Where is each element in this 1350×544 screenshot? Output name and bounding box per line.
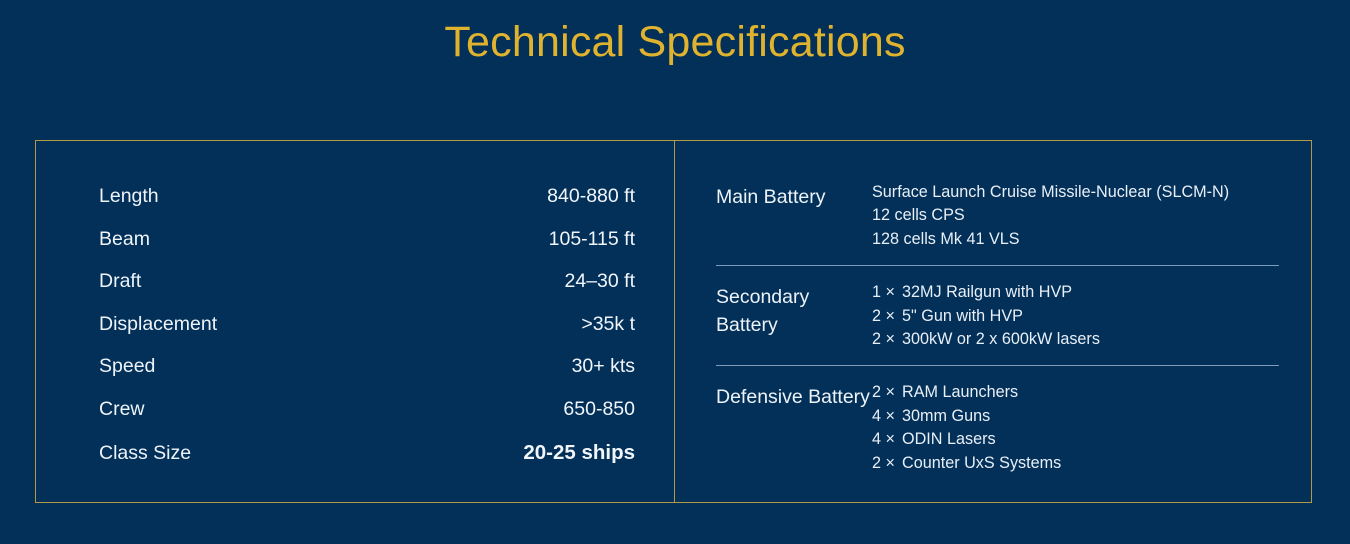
armament-group-secondary-battery: Secondary Battery 1 × 32MJ Railgun with … xyxy=(716,266,1279,366)
spec-label: Length xyxy=(99,185,159,208)
table-row: Speed 30+ kts xyxy=(99,355,635,398)
armament-item-text: 128 cells Mk 41 VLS xyxy=(872,228,1279,251)
list-item: 2 × Counter UxS Systems xyxy=(872,452,1279,475)
spec-label: Speed xyxy=(99,355,155,378)
armament-item-text: Counter UxS Systems xyxy=(902,452,1279,475)
armament-item-count: 2 × xyxy=(872,381,902,404)
spec-label: Draft xyxy=(99,270,141,293)
armament-item-count: 4 × xyxy=(872,428,902,451)
spec-value: 650-850 xyxy=(563,398,635,421)
list-item: 1 × 32MJ Railgun with HVP xyxy=(872,281,1279,304)
table-row: Beam 105-115 ft xyxy=(99,228,635,271)
spec-label: Crew xyxy=(99,398,145,421)
spec-value: 30+ kts xyxy=(572,355,635,378)
armament-specifications-table: Main Battery Surface Launch Cruise Missi… xyxy=(675,141,1311,502)
armament-item-text: 300kW or 2 x 600kW lasers xyxy=(902,328,1279,351)
armament-item-text: 32MJ Railgun with HVP xyxy=(902,281,1279,304)
spec-value: 24–30 ft xyxy=(565,270,635,293)
spec-label: Beam xyxy=(99,228,150,251)
spec-label: Displacement xyxy=(99,313,217,336)
spec-value: >35k t xyxy=(581,313,635,336)
table-row: Length 840-880 ft xyxy=(99,185,635,228)
list-item: Surface Launch Cruise Missile-Nuclear (S… xyxy=(872,181,1279,204)
list-item: 2 × 5" Gun with HVP xyxy=(872,305,1279,328)
armament-item-count: 4 × xyxy=(872,405,902,428)
armament-group-label: Main Battery xyxy=(716,181,872,211)
armament-item-text: ODIN Lasers xyxy=(902,428,1279,451)
armament-item-count: 2 × xyxy=(872,452,902,475)
table-row: Displacement >35k t xyxy=(99,313,635,356)
armament-group-main-battery: Main Battery Surface Launch Cruise Missi… xyxy=(716,181,1279,266)
armament-item-text: 5" Gun with HVP xyxy=(902,305,1279,328)
spec-value: 20-25 ships xyxy=(523,441,635,465)
armament-item-text: RAM Launchers xyxy=(902,381,1279,404)
armament-group-label: Defensive Battery xyxy=(716,381,872,411)
spec-label: Class Size xyxy=(99,442,191,465)
hull-specifications-table: Length 840-880 ft Beam 105-115 ft Draft … xyxy=(36,141,675,502)
armament-item-count: 2 × xyxy=(872,305,902,328)
table-row: Draft 24–30 ft xyxy=(99,270,635,313)
spec-value: 840-880 ft xyxy=(547,185,635,208)
specifications-panel: Length 840-880 ft Beam 105-115 ft Draft … xyxy=(35,140,1312,503)
armament-group-label: Secondary Battery xyxy=(716,281,872,340)
spec-value: 105-115 ft xyxy=(549,228,635,251)
armament-item-text: 30mm Guns xyxy=(902,405,1279,428)
armament-item-text: 12 cells CPS xyxy=(872,204,1279,227)
list-item: 2 × 300kW or 2 x 600kW lasers xyxy=(872,328,1279,351)
armament-group-defensive-battery: Defensive Battery 2 × RAM Launchers 4 × … xyxy=(716,366,1279,475)
armament-item-list: 2 × RAM Launchers 4 × 30mm Guns 4 × ODIN… xyxy=(872,381,1279,475)
table-row: Class Size 20-25 ships xyxy=(99,441,635,484)
armament-item-count: 2 × xyxy=(872,328,902,351)
table-row: Crew 650-850 xyxy=(99,398,635,441)
list-item: 2 × RAM Launchers xyxy=(872,381,1279,404)
list-item: 4 × 30mm Guns xyxy=(872,405,1279,428)
list-item: 4 × ODIN Lasers xyxy=(872,428,1279,451)
list-item: 128 cells Mk 41 VLS xyxy=(872,228,1279,251)
armament-item-count: 1 × xyxy=(872,281,902,304)
page-title: Technical Specifications xyxy=(0,18,1350,67)
armament-item-list: Surface Launch Cruise Missile-Nuclear (S… xyxy=(872,181,1279,251)
armament-item-text: Surface Launch Cruise Missile-Nuclear (S… xyxy=(872,181,1279,204)
armament-item-list: 1 × 32MJ Railgun with HVP 2 × 5" Gun wit… xyxy=(872,281,1279,351)
list-item: 12 cells CPS xyxy=(872,204,1279,227)
